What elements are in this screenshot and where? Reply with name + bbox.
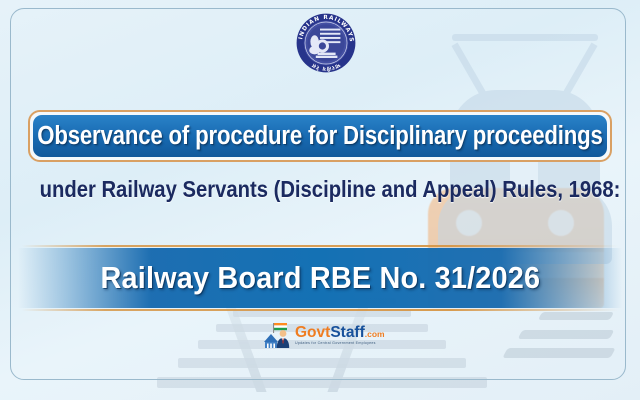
pantograph-bar <box>452 34 598 41</box>
govtstaff-part-govt: Govt <box>295 324 330 341</box>
motion-streak <box>538 312 614 320</box>
govtstaff-tagline: Updates for Central Government Employees <box>295 342 385 346</box>
headline-band: Observance of procedure for Disciplinary… <box>28 110 612 162</box>
track-sleeper <box>157 377 487 388</box>
headline-band-fill: Observance of procedure for Disciplinary… <box>33 115 607 157</box>
track-sleeper <box>233 310 411 317</box>
rbe-band: Railway Board RBE No. 31/2026 <box>18 248 622 308</box>
govtstaff-part-staff: Staff <box>330 324 364 341</box>
motion-streak <box>518 330 615 339</box>
govtstaff-wordmark: GovtStaff.com Updates for Central Govern… <box>295 325 385 346</box>
indian-railways-emblem: INDIAN RAILWAYS भारतीय रेल <box>296 13 356 73</box>
rbe-number-text: Railway Board RBE No. 31/2026 <box>100 260 540 296</box>
subtitle-text: under Railway Servants (Discipline and A… <box>40 176 621 203</box>
rbe-band-rule-bottom <box>22 309 618 311</box>
railway-circular-poster: INDIAN RAILWAYS भारतीय रेल Observance of… <box>0 0 640 400</box>
govtstaff-name: GovtStaff.com <box>295 325 385 341</box>
headline-text: Observance of procedure for Disciplinary… <box>37 122 602 151</box>
rbe-band-rule-top <box>22 245 618 247</box>
subtitle-line: under Railway Servants (Discipline and A… <box>0 176 640 203</box>
govtstaff-part-domain: .com <box>365 329 385 339</box>
govtstaff-logo-mark <box>263 322 293 349</box>
govtstaff-logo[interactable]: GovtStaff.com Updates for Central Govern… <box>263 321 379 349</box>
motion-streak <box>502 348 615 358</box>
track-sleeper <box>178 358 466 368</box>
